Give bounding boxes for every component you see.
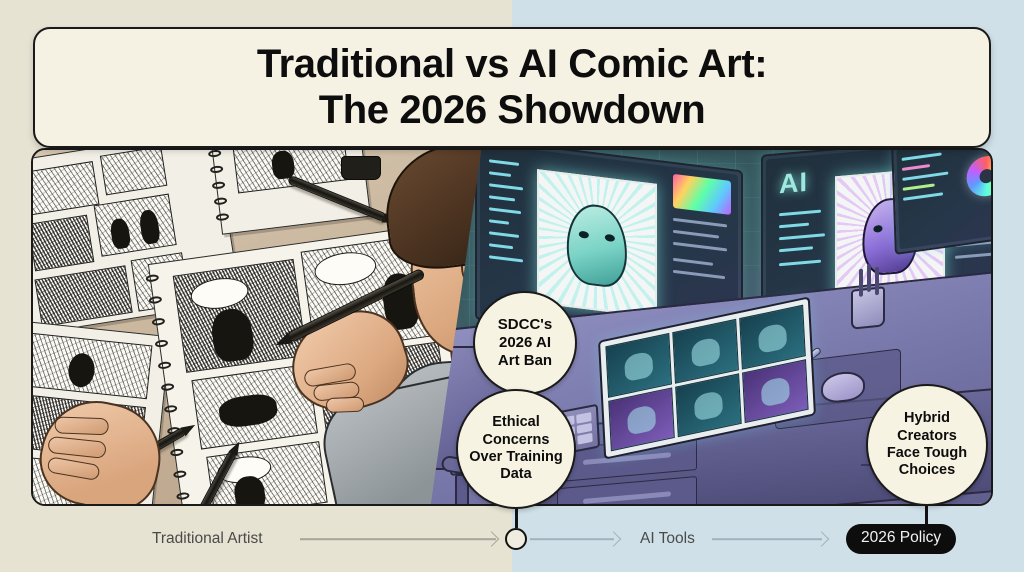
timeline-arrow-3 [814, 531, 830, 547]
timeline-arrow-2 [606, 531, 622, 547]
timeline-connector-3 [712, 538, 822, 540]
timeline-badge-2026-policy[interactable]: 2026 Policy [846, 524, 956, 554]
ai-screen-label: AI [779, 167, 808, 201]
timeline-label-ai-tools: AI Tools [640, 530, 695, 548]
monitor-back-wall [891, 150, 991, 255]
timeline-label-traditional-artist: Traditional Artist [152, 530, 263, 548]
title-card: Traditional vs AI Comic Art: The 2026 Sh… [33, 27, 991, 148]
timeline: Traditional Artist AI Tools 2026 Policy [0, 506, 1024, 572]
timeline-connector-2 [530, 538, 614, 540]
callout-sdcc-ai-art-ban[interactable]: SDCC's 2026 AI Art Ban [473, 291, 577, 395]
page-title: Traditional vs AI Comic Art: The 2026 Sh… [257, 42, 767, 133]
color-swatch-strip [673, 174, 731, 215]
pen-holder [851, 286, 885, 330]
callout-ethical-concerns[interactable]: Ethical Concerns Over Training Data [456, 389, 576, 509]
callout-hybrid-creators[interactable]: Hybrid Creators Face Tough Choices [866, 384, 988, 506]
ai-generated-portrait-left [537, 169, 657, 318]
timeline-node-center[interactable] [505, 528, 527, 550]
timeline-connector-1 [300, 538, 496, 540]
infographic-canvas: AI [0, 0, 1024, 572]
timeline-arrow-1 [484, 531, 500, 547]
